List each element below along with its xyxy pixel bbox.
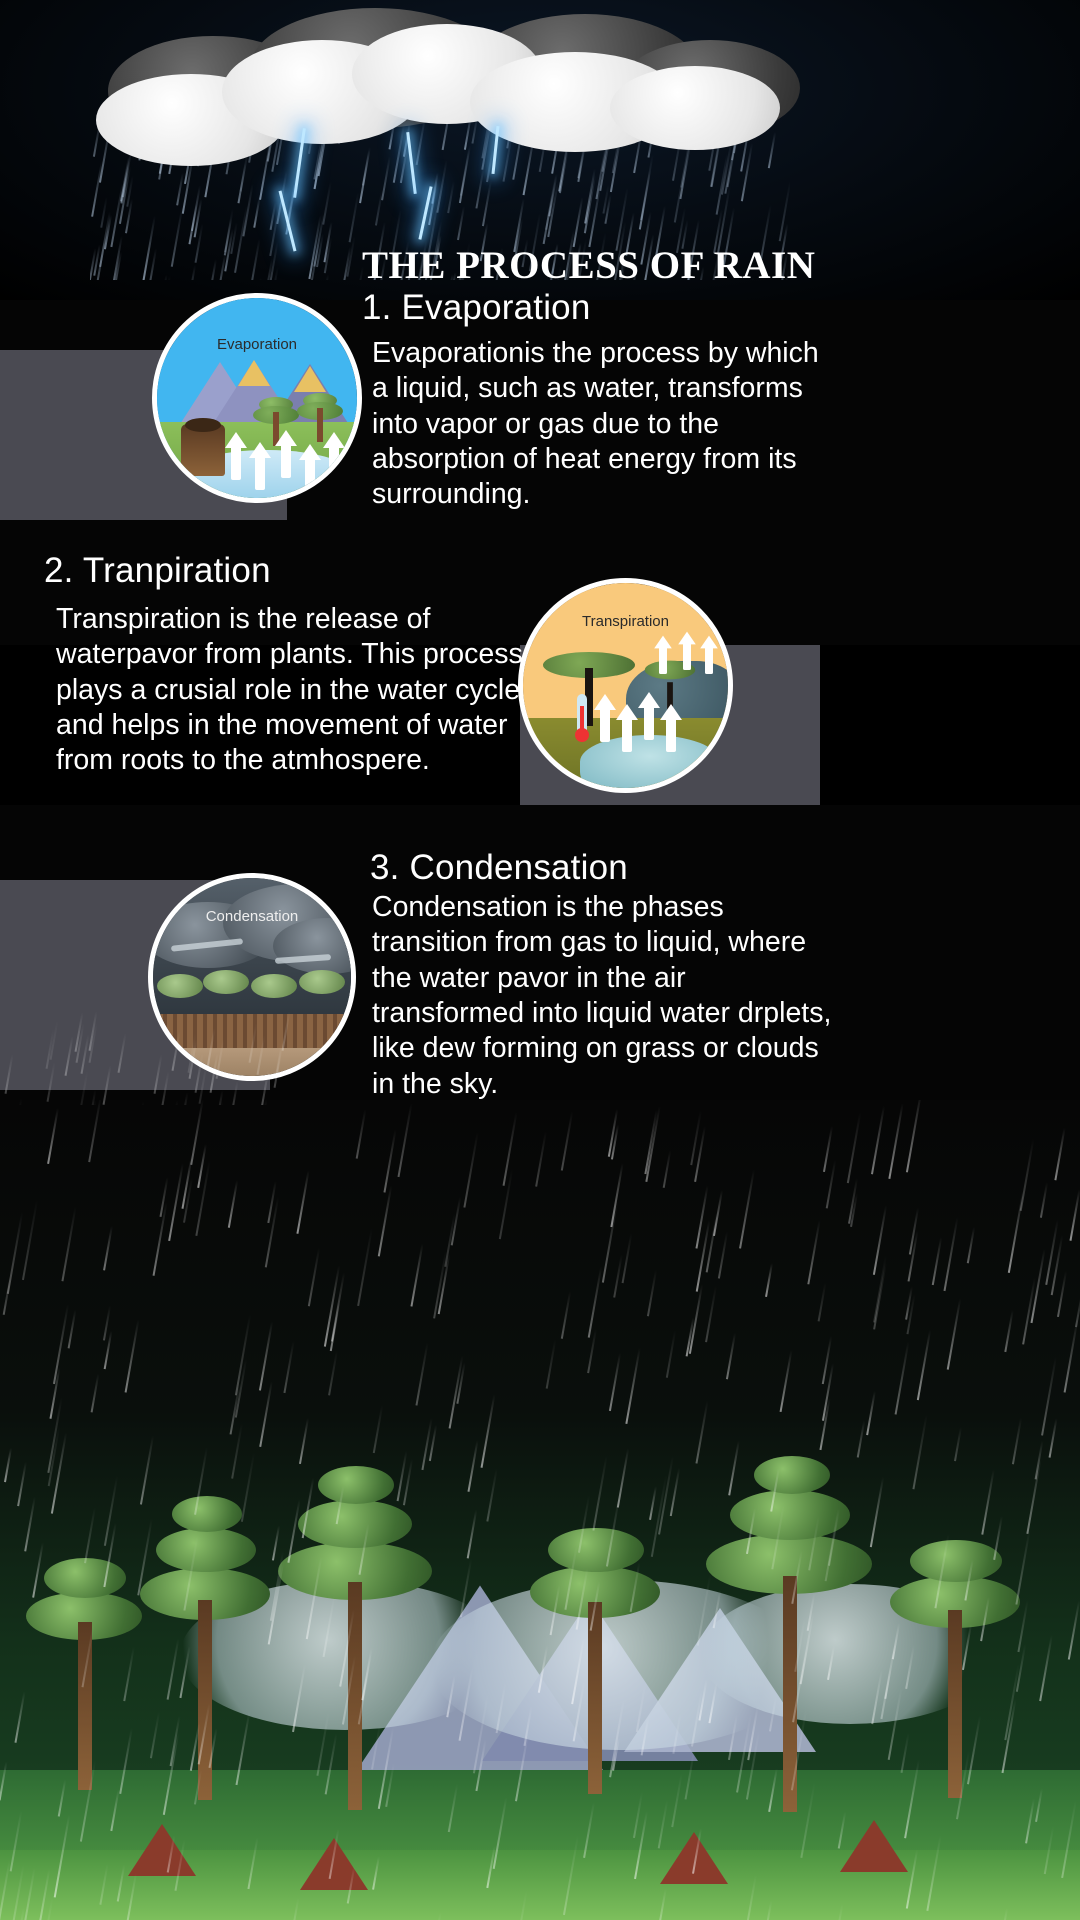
- condensation-bush-1: [157, 974, 203, 998]
- vapor-arrow-5: [323, 432, 345, 482]
- condensation-circle-caption: Condensation: [153, 908, 351, 925]
- forest-tree-4: [700, 1412, 880, 1812]
- evaporation-circle-caption: Evaporation: [157, 336, 357, 353]
- tent-4: [840, 1820, 908, 1872]
- thermometer-icon: [577, 694, 587, 736]
- transpiration-arrow-6: [681, 632, 694, 661]
- vapor-arrow-4: [299, 444, 321, 494]
- left-rain-strip: [0, 1010, 300, 1105]
- transpiration-pond: [580, 735, 719, 788]
- tent-2: [300, 1838, 368, 1890]
- evaporation-circle-image: Evaporation: [152, 293, 362, 503]
- condensation-bush-4: [299, 970, 345, 994]
- tree-stump: [181, 424, 225, 476]
- vapor-arrow-2: [249, 442, 271, 492]
- forest-tree-2: [270, 1420, 440, 1810]
- infographic-poster: THE PROCESS OF RAIN 1. Evaporation Evapo…: [0, 0, 1080, 1920]
- condensation-bush-3: [251, 974, 297, 998]
- vapor-arrow-3: [275, 430, 297, 480]
- forest-tree-1: [130, 1470, 280, 1800]
- condensation-bush-2: [203, 970, 249, 994]
- forest-tree-6: [20, 1510, 150, 1790]
- panel-section-2-mask-right: [820, 645, 1080, 805]
- transpiration-arrow-5: [657, 636, 670, 665]
- section-1-body: Evaporationis the process by which a liq…: [372, 336, 834, 513]
- transpiration-circle-image: Transpiration: [518, 578, 733, 793]
- rainy-forest-scene: [0, 1100, 1080, 1920]
- section-1-heading: 1. Evaporation: [362, 288, 591, 328]
- transpiration-arrow-7: [703, 636, 716, 665]
- cloud-light-5: [610, 66, 780, 150]
- page-title: THE PROCESS OF RAIN: [362, 243, 815, 288]
- section-2-body: Transpiration is the release of waterpav…: [56, 602, 526, 779]
- section-3-heading: 3. Condensation: [370, 848, 628, 888]
- vapor-arrow-1: [225, 432, 247, 482]
- section-2-heading: 2. Tranpiration: [44, 551, 271, 591]
- tent-3: [660, 1832, 728, 1884]
- transpiration-arrow-3: [639, 692, 659, 736]
- transpiration-arrow-2: [617, 704, 637, 748]
- transpiration-arrow-1: [595, 694, 615, 738]
- section-3-body: Condensation is the phases transition fr…: [372, 890, 840, 1102]
- forest-tree-5: [880, 1478, 1030, 1798]
- forest-tree-3: [520, 1464, 670, 1794]
- tent-1: [128, 1824, 196, 1876]
- transpiration-circle-caption: Transpiration: [523, 613, 728, 630]
- transpiration-arrow-4: [661, 704, 681, 748]
